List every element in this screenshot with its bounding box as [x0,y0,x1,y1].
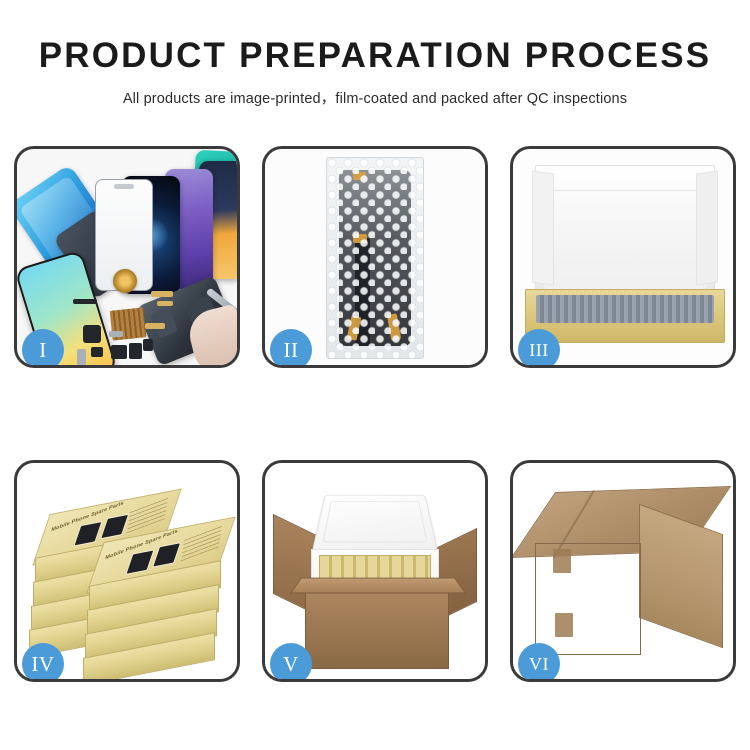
step-badge-2: II [270,329,312,365]
shipping-carton-icon [305,589,449,669]
step-badge-5: V [270,643,312,679]
component-part-icon [143,339,153,351]
box-stack-front: Mobile Phone Spare Parts [79,531,229,679]
step-4-illustration: Mobile Phone Spare Parts Mobile Phone Sp… [17,463,237,679]
step-6-illustration: VI [513,463,733,679]
carton-front-face [535,543,641,655]
step-badge-1: I [22,329,64,365]
bubble-texture [327,158,423,358]
step-badge-3: III [518,329,560,365]
white-box-lid-icon [535,165,715,293]
component-part-icon [151,291,173,297]
process-step-panel-4: Mobile Phone Spare Parts Mobile Phone Sp… [14,460,240,682]
process-step-panel-6: VI [510,460,736,682]
process-steps-grid: I II [14,146,736,682]
carton-tape-icon [555,613,573,637]
lid-flap-right [696,170,718,285]
bubble-wrapped-contents-icon [536,295,714,323]
component-part-icon [129,343,142,359]
component-part-icon [157,301,173,306]
step-3-illustration: III [513,149,733,365]
component-part-icon [91,347,103,357]
kraft-tray-icon [525,289,725,343]
component-part-icon [109,331,123,337]
component-part-icon [145,323,165,329]
bubble-bag-icon [326,157,424,359]
box-window-icon [152,542,181,568]
component-part-icon [77,349,86,365]
step-2-illustration: II [265,149,485,365]
page-subtitle: All products are image-printed，film-coat… [0,87,750,108]
step-1-illustration: I [17,149,237,365]
process-step-panel-5: V [262,460,488,682]
component-part-icon [73,299,97,304]
step-badge-6: VI [518,643,560,679]
process-step-panel-3: III [510,146,736,368]
page-header: PRODUCT PREPARATION PROCESS All products… [0,0,750,108]
step-5-illustration: V [265,463,485,679]
component-part-icon [111,345,127,359]
lid-flap-left [532,170,554,285]
process-step-panel-1: I [14,146,240,368]
box-spec-lines [127,497,169,534]
foam-lid-icon [312,495,438,551]
step-badge-4: IV [22,643,64,679]
box-spec-lines [181,525,223,562]
speaker-coil-icon [113,269,137,293]
page-title: PRODUCT PREPARATION PROCESS [0,38,750,75]
carton-tape-icon [553,549,571,573]
box-window-icon [125,549,154,575]
process-step-panel-2: II [262,146,488,368]
component-part-icon [83,325,101,343]
